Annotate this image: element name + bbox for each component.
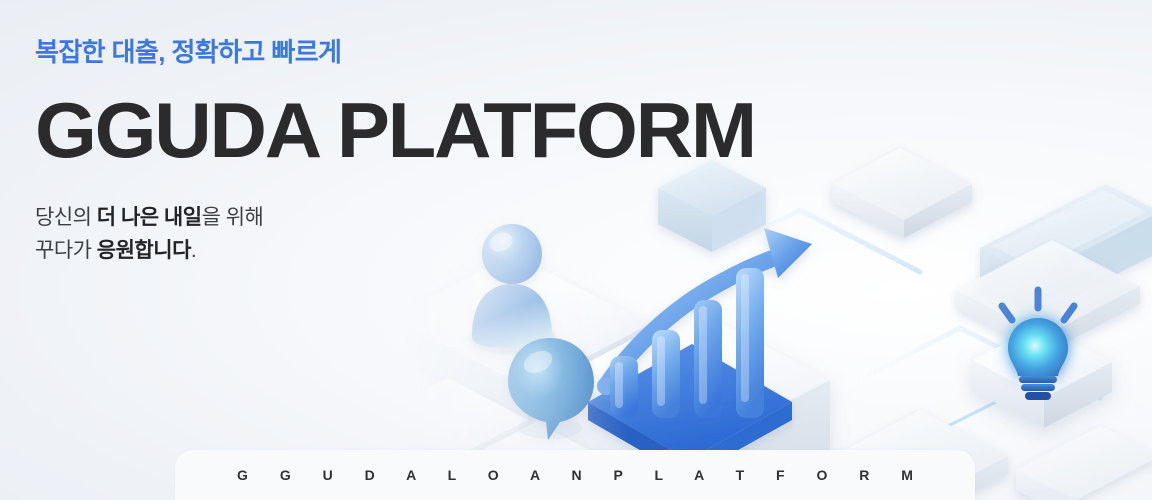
tile-cube-small [658,160,766,252]
hero-eyebrow-text: 복잡한 대출, 정확하고 빠르게 [35,36,635,69]
chart-bar-2 [652,330,680,418]
subcopy-l1-part2: 을 위해 [202,206,264,229]
subcopy-l2-part2: . [191,239,196,262]
speech-bubble-icon [508,338,594,440]
lightbulb-idea-icon [1002,290,1074,400]
hero-subcopy-line-1: 당신의 더 나은 내일을 위해 [35,202,635,235]
hero-text-block: 복잡한 대출, 정확하고 빠르게 GGUDA PLATFORM 당신의 더 나은… [35,36,635,267]
lightbulb-rays [1002,290,1074,320]
chart-bar-4 [736,268,764,418]
tile-mid-right [956,240,1140,354]
hero-banner: 복잡한 대출, 정확하고 빠르게 GGUDA PLATFORM 당신의 더 나은… [0,0,1152,500]
hero-subcopy-line-2: 꾸다가 응원합니다. [35,235,635,268]
chart-bar-3 [694,300,722,418]
tile-far-right-front [1016,426,1152,500]
bottom-brand-strip-label: G G U D A L O A N P L A T F O R M [223,467,927,483]
chart-bar-1 [610,356,638,418]
tile-back-right [832,148,972,238]
bottom-brand-strip: G G U D A L O A N P L A T F O R M [175,450,975,500]
subcopy-l1-strong: 더 나은 내일 [97,206,202,229]
hero-subcopy: 당신의 더 나은 내일을 위해 꾸다가 응원합니다. [35,202,635,267]
tile-person-platform [390,254,650,422]
subcopy-l2-strong: 응원합니다 [97,239,191,262]
tile-bulb-platform [972,326,1112,428]
subcopy-l1-part1: 당신의 [35,206,97,229]
subcopy-l2-part1: 꾸다가 [35,239,97,262]
tile-glass-slab [980,184,1152,316]
page-title: GGUDA PLATFORM [35,91,647,171]
